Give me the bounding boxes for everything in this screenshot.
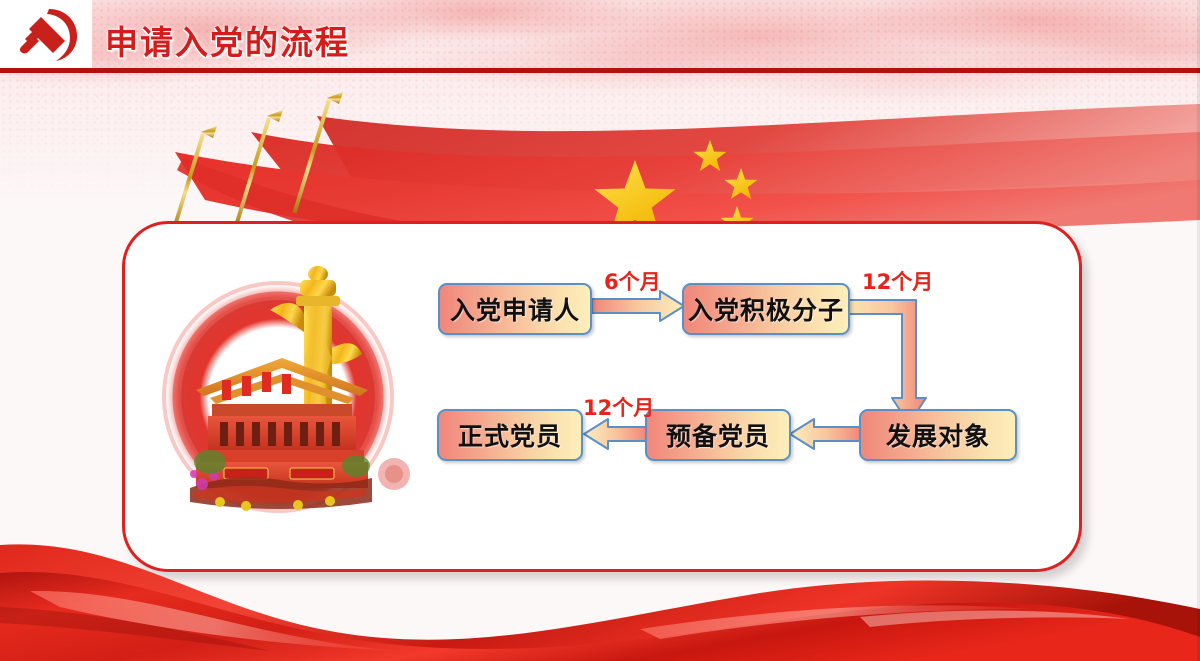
slide-canvas: 申请入党的流程 bbox=[0, 0, 1200, 661]
flow-node-activist[interactable]: 入党积极分子 bbox=[682, 283, 850, 335]
cpc-hammer-sickle-emblem bbox=[0, 0, 92, 70]
edge-label-12-months-activist: 12个月 bbox=[862, 266, 933, 296]
flow-node-target[interactable]: 发展对象 bbox=[859, 409, 1017, 461]
flow-node-label: 入党积极分子 bbox=[688, 291, 844, 327]
page-title: 申请入党的流程 bbox=[105, 16, 350, 64]
edge-label-6-months: 6个月 bbox=[604, 266, 661, 296]
flow-node-label: 发展对象 bbox=[886, 417, 990, 453]
edge-label-12-months-probation: 12个月 bbox=[583, 392, 654, 422]
hammer-sickle-icon bbox=[16, 6, 82, 64]
flow-node-probation[interactable]: 预备党员 bbox=[645, 409, 791, 461]
header-divider bbox=[0, 68, 1200, 73]
flow-node-applicant[interactable]: 入党申请人 bbox=[438, 283, 592, 335]
flow-node-label: 预备党员 bbox=[666, 417, 770, 453]
flow-node-fullmember[interactable]: 正式党员 bbox=[437, 409, 583, 461]
red-silk-ribbon bbox=[0, 511, 1200, 661]
china-national-flag-banner bbox=[55, 88, 1200, 233]
tiananmen-gate-ink-circle bbox=[150, 262, 420, 527]
flow-node-label: 正式党员 bbox=[458, 417, 562, 453]
flow-node-label: 入党申请人 bbox=[450, 291, 580, 327]
